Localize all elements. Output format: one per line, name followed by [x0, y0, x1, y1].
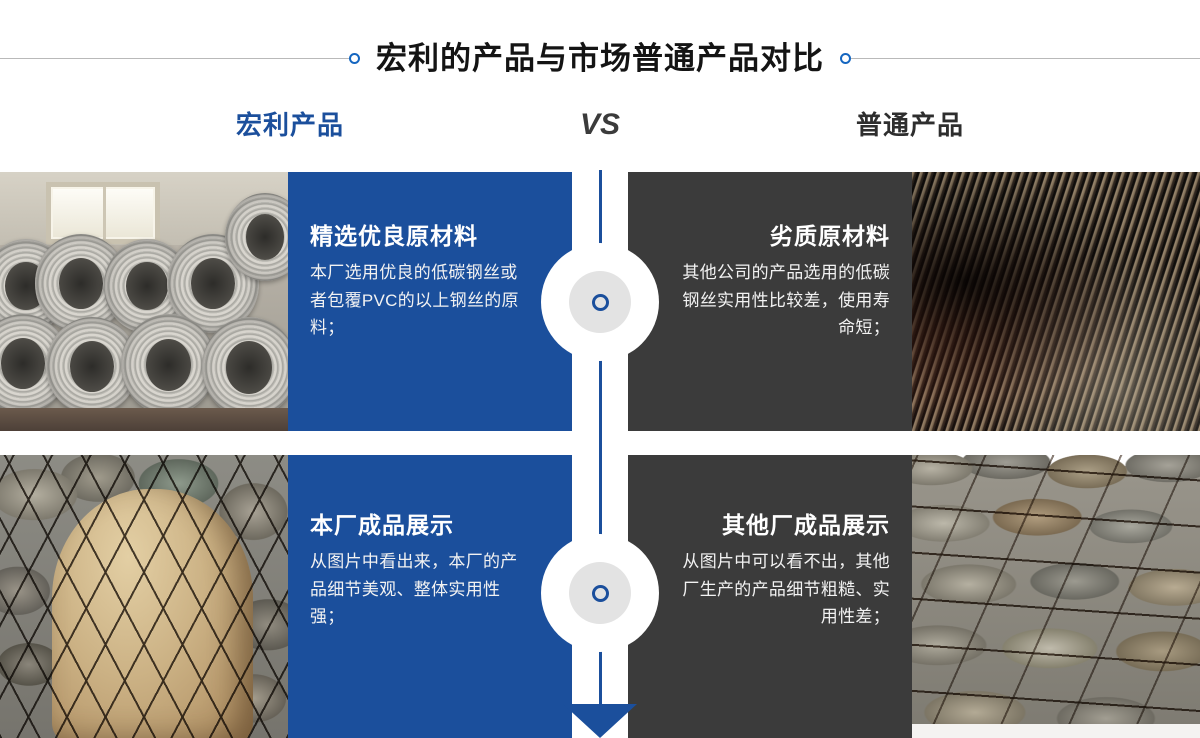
comparison-infographic: 宏利的产品与市场普通产品对比 宏利产品 VS 普通产品 [0, 0, 1200, 738]
connector-inner-disc [569, 271, 631, 333]
card-ordinary-finished-product: 其他厂成品展示 从图片中可以看不出，其他厂生产的产品细节粗糙、实用性差； [628, 455, 912, 738]
title-dot-right-icon [840, 53, 851, 64]
center-connector-node-2 [541, 534, 659, 652]
header-label-ours: 宏利产品 [140, 112, 440, 138]
page-title-row: 宏利的产品与市场普通产品对比 [0, 24, 1200, 92]
card-ordinary-raw-material: 劣质原材料 其他公司的产品选用的低碳钢丝实用性比较差，使用寿命短； [628, 172, 912, 431]
photo-ours-finished-product [0, 455, 288, 738]
photo-ours-raw-material [0, 172, 288, 431]
card-title: 本厂成品展示 [310, 513, 526, 538]
card-title: 其他厂成品展示 [674, 513, 890, 538]
photo-ordinary-raw-material [912, 172, 1200, 431]
card-ours-raw-material: 精选优良原材料 本厂选用优良的低碳钢丝或者包覆PVC的以上钢丝的原料； [288, 172, 572, 431]
header-label-ordinary: 普通产品 [760, 112, 1060, 138]
card-title: 劣质原材料 [674, 224, 890, 249]
page-title: 宏利的产品与市场普通产品对比 [360, 43, 840, 74]
center-connector-node-1 [541, 243, 659, 361]
card-body: 本厂选用优良的低碳钢丝或者包覆PVC的以上钢丝的原料； [310, 259, 524, 342]
header-label-vs: VS [520, 110, 680, 140]
card-body: 从图片中看出来，本厂的产品细节美观、整体实用性强； [310, 548, 524, 631]
card-ours-finished-product: 本厂成品展示 从图片中看出来，本厂的产品细节美观、整体实用性强； [288, 455, 572, 738]
connector-ring-icon [592, 294, 609, 311]
card-body: 从图片中可以看不出，其他厂生产的产品细节粗糙、实用性差； [676, 548, 890, 631]
card-body: 其他公司的产品选用的低碳钢丝实用性比较差，使用寿命短； [676, 259, 890, 342]
photo-ordinary-finished-product [912, 455, 1200, 738]
card-title: 精选优良原材料 [310, 224, 526, 249]
column-headers: 宏利产品 VS 普通产品 [0, 112, 1200, 174]
title-dot-left-icon [349, 53, 360, 64]
connector-inner-disc [569, 562, 631, 624]
center-arrow-down-icon [563, 704, 637, 738]
connector-ring-icon [592, 585, 609, 602]
title-rule-left [0, 58, 349, 59]
title-rule-right [851, 58, 1200, 59]
